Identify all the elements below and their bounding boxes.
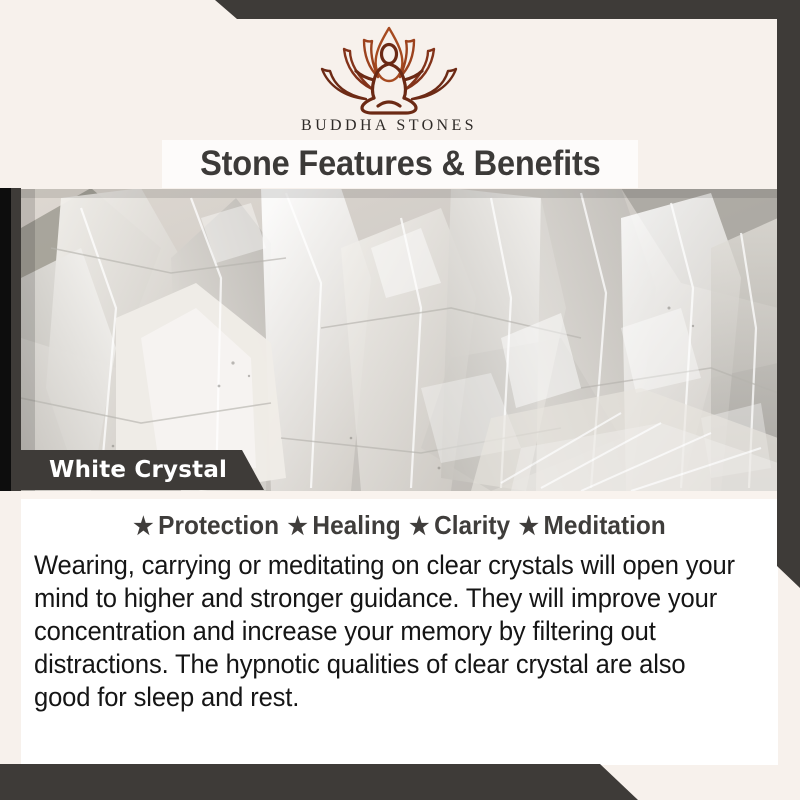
infographic-card: White Crystal xyxy=(0,0,800,800)
benefit-item-protection: ★Protection xyxy=(133,510,279,540)
frame-bar-top xyxy=(0,0,800,19)
star-icon: ★ xyxy=(519,513,539,540)
benefit-label: Protection xyxy=(158,510,279,540)
frame-bar-right xyxy=(777,0,800,588)
benefit-label: Healing xyxy=(312,510,400,540)
star-icon: ★ xyxy=(133,513,153,540)
benefit-item-meditation: ★Meditation xyxy=(510,510,666,540)
frame-bar-left-inner xyxy=(0,188,11,491)
lotus-meditation-figure-icon xyxy=(300,23,478,115)
benefits-list: ★Protection★Healing★Clarity★Meditation xyxy=(44,510,756,541)
brand-logo: BUDDHA STONES xyxy=(0,23,778,135)
benefit-item-clarity: ★Clarity xyxy=(401,510,510,540)
white-crystal-cluster-photo xyxy=(21,188,778,491)
crystal-photo-art xyxy=(21,188,778,491)
brand-name: BUDDHA STONES xyxy=(301,117,477,135)
benefit-label: Meditation xyxy=(544,510,666,540)
panel-top-edge xyxy=(21,491,778,499)
description-text: Wearing, carrying or meditating on clear… xyxy=(34,549,742,714)
content-panel: ★Protection★Healing★Clarity★Meditation W… xyxy=(21,491,778,765)
star-icon: ★ xyxy=(409,513,429,540)
photo-label-text: White Crystal xyxy=(49,457,227,483)
frame-bar-bottom xyxy=(0,764,660,800)
benefit-label: Clarity xyxy=(434,510,510,540)
page-title: Stone Features & Benefits xyxy=(200,144,601,184)
page-title-band: Stone Features & Benefits xyxy=(162,140,638,188)
photo-label: White Crystal xyxy=(21,450,264,490)
benefit-item-healing: ★Healing xyxy=(279,510,401,540)
star-icon: ★ xyxy=(287,513,307,540)
